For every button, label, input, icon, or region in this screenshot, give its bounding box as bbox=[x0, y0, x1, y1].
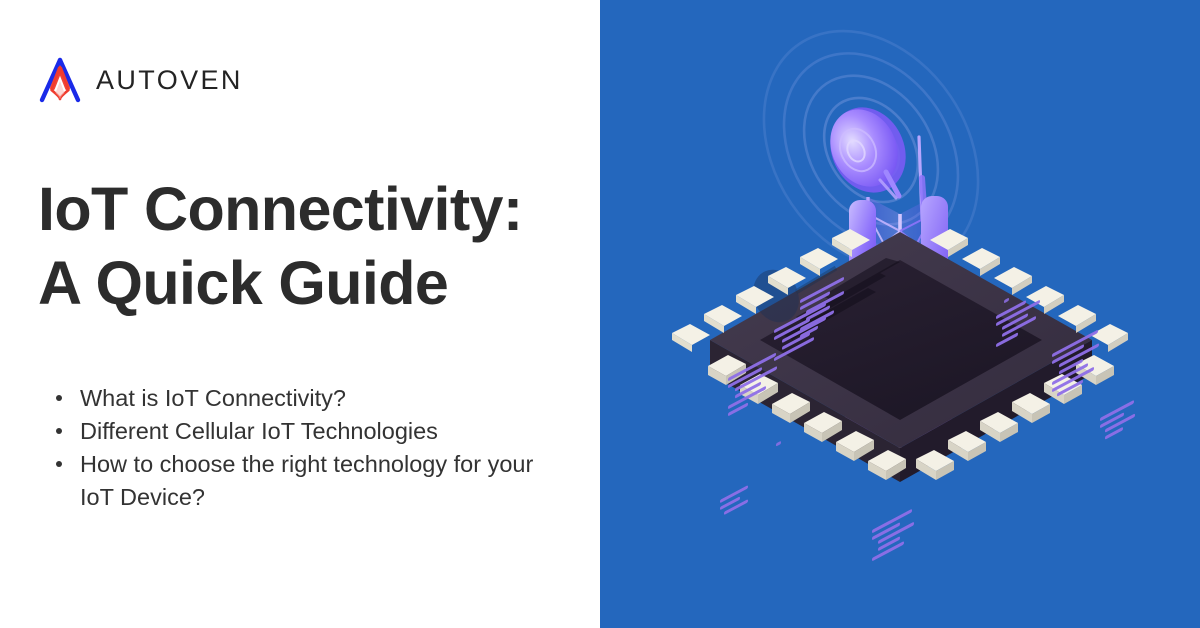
list-item-label: What is IoT Connectivity? bbox=[80, 385, 346, 411]
bullet-dot-icon bbox=[56, 428, 62, 434]
isometric-iot-chip-illustration bbox=[600, 0, 1200, 628]
bullet-dot-icon bbox=[56, 395, 62, 401]
brand-logo: AUTOVEN bbox=[38, 57, 243, 103]
topic-list: What is IoT Connectivity? Different Cell… bbox=[52, 382, 572, 514]
list-item-label: How to choose the right technology for y… bbox=[80, 451, 533, 510]
left-content-panel: AUTOVEN IoT Connectivity: A Quick Guide … bbox=[0, 0, 600, 628]
bullet-dot-icon bbox=[56, 461, 62, 467]
autoven-a-mark-icon bbox=[38, 57, 82, 103]
brand-name: AUTOVEN bbox=[96, 67, 243, 94]
cover-image: AUTOVEN IoT Connectivity: A Quick Guide … bbox=[0, 0, 1200, 628]
list-item-label: Different Cellular IoT Technologies bbox=[80, 418, 438, 444]
list-item: How to choose the right technology for y… bbox=[52, 448, 572, 514]
microchip-icon bbox=[672, 229, 1128, 482]
list-item: Different Cellular IoT Technologies bbox=[52, 415, 572, 448]
page-title: IoT Connectivity: A Quick Guide bbox=[38, 172, 578, 321]
list-item: What is IoT Connectivity? bbox=[52, 382, 572, 415]
illustration-panel bbox=[600, 0, 1200, 628]
